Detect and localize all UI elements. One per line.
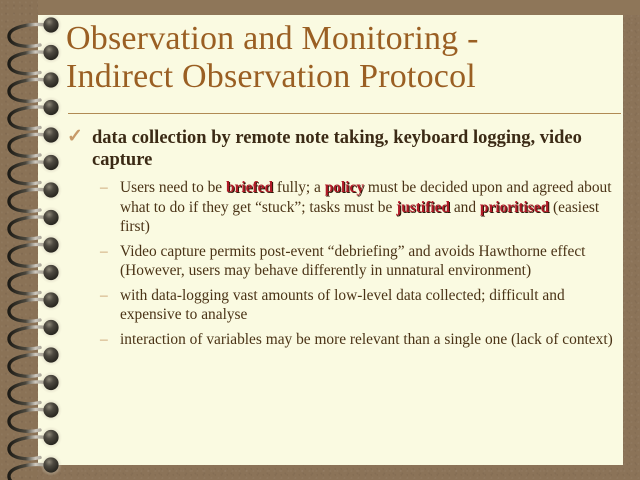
en-dash-icon: – [100, 286, 108, 306]
background-top-band [0, 0, 640, 15]
slide-canvas: Observation and Monitoring - Indirect Ob… [0, 0, 640, 480]
plain-text-run: Users need to be [120, 179, 226, 196]
en-dash-icon: – [100, 242, 108, 262]
page-title: Observation and Monitoring - Indirect Ob… [66, 20, 622, 96]
slide-content: Observation and Monitoring - Indirect Ob… [38, 15, 623, 465]
plain-text-run: interaction of variables may be more rel… [120, 331, 613, 348]
plain-text-run: with data-logging vast amounts of low-le… [120, 287, 565, 324]
highlighted-term: briefed [226, 179, 273, 196]
check-mark-icon: ✓ [67, 126, 83, 148]
sub-bullet-text: with data-logging vast amounts of low-le… [120, 287, 565, 324]
bullet-list: ✓ data collection by remote note taking,… [64, 127, 624, 354]
sub-bullet-item: –Video capture permits post-event “debri… [64, 242, 624, 281]
highlighted-term: justified [396, 199, 450, 216]
sub-bullet-text: Video capture permits post-event “debrie… [120, 243, 585, 280]
bullet-level1-text: data collection by remote note taking, k… [92, 128, 582, 170]
plain-text-run: fully; a [273, 179, 325, 196]
en-dash-icon: – [100, 330, 108, 350]
background-left-strip [0, 0, 38, 480]
sub-bullet-item: –Users need to be briefed fully; a polic… [64, 178, 624, 237]
en-dash-icon: – [100, 178, 108, 198]
plain-text-run: Video capture permits post-event “debrie… [120, 243, 585, 280]
highlighted-term: prioritised [480, 199, 549, 216]
highlighted-term: policy [325, 179, 364, 196]
title-underline [68, 113, 621, 114]
sub-bullet-item: –interaction of variables may be more re… [64, 330, 624, 350]
sub-bullet-item: –with data-logging vast amounts of low-l… [64, 286, 624, 325]
plain-text-run: and [450, 199, 480, 216]
sub-bullet-text: Users need to be briefed fully; a policy… [120, 179, 612, 235]
bullet-level1: ✓ data collection by remote note taking,… [64, 127, 624, 171]
sub-bullet-text: interaction of variables may be more rel… [120, 331, 613, 348]
sub-bullet-list: –Users need to be briefed fully; a polic… [64, 178, 624, 349]
